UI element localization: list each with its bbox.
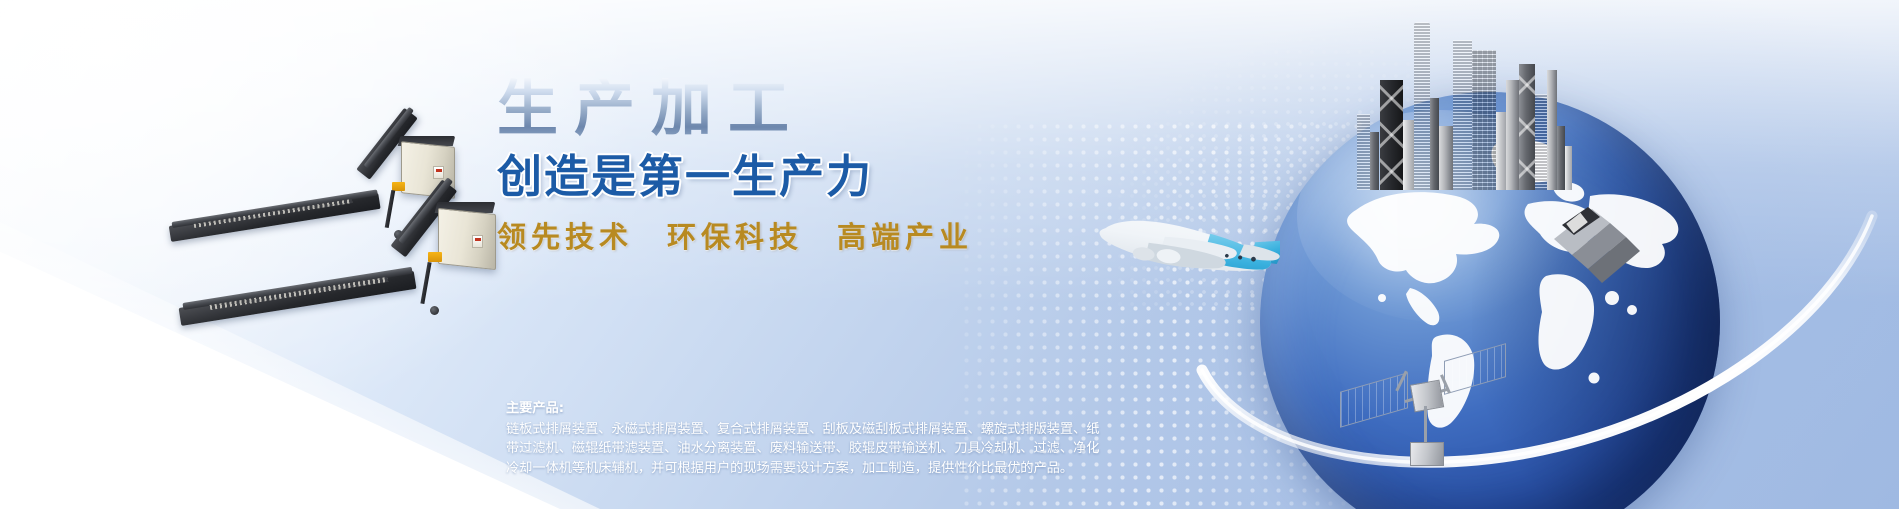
building [1535,94,1547,190]
satellite-module [1410,442,1444,466]
building [1403,120,1414,190]
building [1496,112,1506,190]
product-description: 主要产品: 链板式排屑装置、永磁式排屑装置、复合式排屑装置、刮板及磁刮板式排屑装… [506,399,1106,478]
solar-panel [1340,372,1408,427]
building [1357,114,1370,190]
product-description-heading: 主要产品: [506,399,1106,419]
building [1565,146,1572,190]
tagline-row: 领先技术 环保科技 高端产业 [497,214,967,256]
building [1557,126,1565,190]
building [1380,80,1403,190]
building [1472,50,1496,190]
city-skyline [1353,0,1583,190]
satellite-icon [1340,330,1510,505]
tagline-item-3: 高端产业 [837,214,973,256]
building [1414,22,1430,190]
warning-label [433,166,444,179]
chip-conveyor-machine-lower [180,208,510,358]
headline-group: 生产加工 生产加工 创造是第一生产力 领先技术 环保科技 高端产业 [497,78,967,256]
solar-panel [1444,343,1506,395]
caster-wheel [430,306,439,315]
globe-equipment-icon [1548,197,1658,307]
warning-label [472,235,483,248]
building [1519,64,1535,190]
motor-housing [438,208,496,270]
control-switch [428,252,442,262]
tagline-item-2: 环保科技 [667,214,803,256]
tagline-item-1: 领先技术 [497,214,633,256]
airplane-icon [1090,168,1280,328]
headline-main: 生产加工 [497,78,967,139]
building [1547,70,1557,190]
product-description-body: 链板式排屑装置、永磁式排屑装置、复合式排屑装置、刮板及磁刮板式排屑装置、螺旋式排… [506,420,1106,479]
satellite-mast [1424,406,1427,446]
promo-banner: 生产加工 生产加工 创造是第一生产力 领先技术 环保科技 高端产业 主要产品: … [0,0,1899,509]
headline-sub: 创造是第一生产力 [497,153,967,201]
building [1453,40,1472,190]
building [1506,80,1519,190]
support-leg [420,262,431,304]
building [1439,126,1453,190]
satellite-body [1410,380,1444,413]
building [1370,132,1379,190]
building [1430,98,1439,190]
